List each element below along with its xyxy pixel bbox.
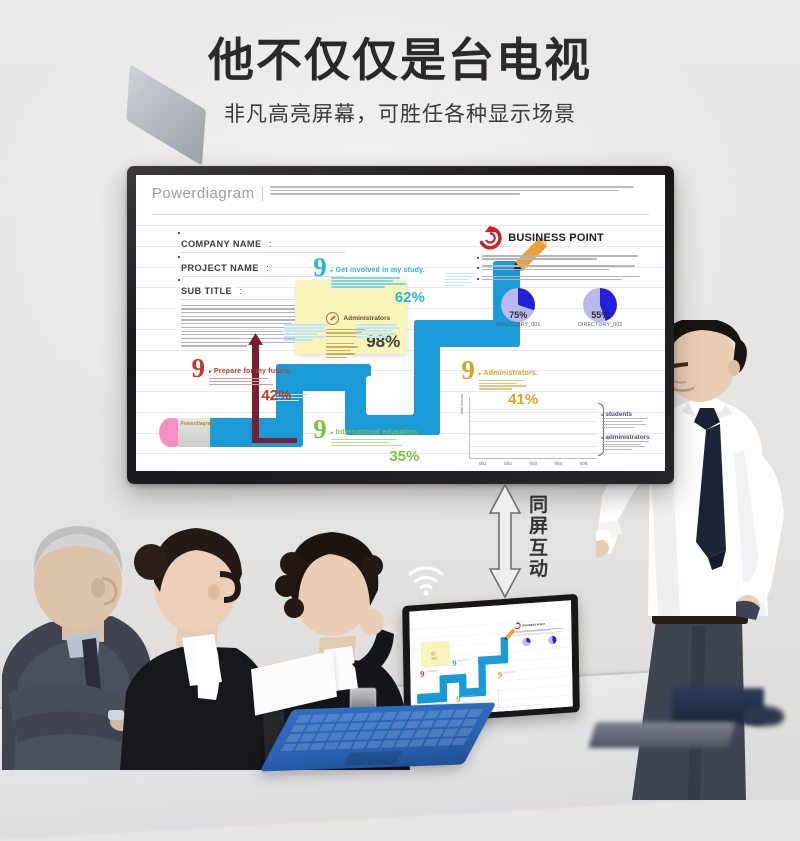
legend-label-text: administrators [605, 434, 649, 441]
bar-chart-y-axis-label: total amount [460, 395, 464, 415]
pie-percent: 55% [578, 310, 623, 320]
legend-label: ▸ students [602, 411, 652, 418]
callout-title: ▸ International education. [331, 429, 420, 436]
wifi-icon [405, 562, 447, 596]
business-point-body [477, 255, 641, 281]
pencil-brand-label: Powerdiagram [180, 421, 214, 427]
pie-chart-group: 75% DIRECTORY_001 55% DIRECTORY_002 [477, 288, 641, 328]
pie-chart-directory-001: 75% DIRECTORY_001 [496, 288, 541, 328]
nine-glyph-icon: 9 [313, 256, 327, 306]
callout-lines [209, 378, 291, 385]
callout-percent: 35% [331, 448, 420, 465]
red-circular-arrow-icon [513, 622, 521, 630]
tablet-screen[interactable]: 9 9 9 9 [409, 600, 572, 717]
sync-label: 同屏互动 [524, 495, 554, 580]
business-point-title: BUSINESS POINT [508, 232, 604, 244]
sync-double-arrow-icon [487, 483, 523, 599]
business-point-header: BUSINESS POINT [477, 225, 641, 251]
callout-title: ▸ Administrators. [479, 370, 538, 377]
legend-item-students[interactable]: ▸ students [602, 411, 652, 427]
callout-lines [479, 380, 538, 390]
nine-glyph-icon: 9 [313, 418, 327, 465]
pie-label: DIRECTORY_001 [496, 322, 541, 328]
callout-international-education[interactable]: 9 ▸ International education. 35% [313, 418, 419, 465]
legend-label: ▸ administrators [602, 434, 652, 441]
business-point-panel: BUSINESS POINT 75% DIRECTORY_001 [477, 225, 641, 327]
x-tick-label: 001 [479, 461, 487, 466]
tv-screen[interactable]: Powerdiagram COMPANY NAME : [136, 175, 665, 471]
pie-percent: 75% [496, 310, 541, 320]
wall-mounted-tv[interactable]: Powerdiagram COMPANY NAME : [127, 166, 674, 484]
business-point-title: BUSINESS POINT [522, 623, 545, 627]
callout-title-text: International education. [336, 429, 420, 436]
bar-chart-bars [471, 397, 596, 458]
callout-title-text: Administrators. [483, 370, 538, 377]
callout-title-text: Get involved in my study. [336, 267, 425, 274]
background-keyboard [588, 722, 735, 748]
background-mouse [742, 706, 784, 726]
callout-prepare-future[interactable]: 9 ▸ Prepare for my future. 42% [192, 357, 292, 404]
callout-title-text: Prepare for my future. [214, 368, 292, 375]
pie-chart-directory-002: 55% DIRECTORY_002 [578, 288, 623, 328]
bar-chart-legend: ▸ students ▸ administrators [602, 411, 652, 456]
callout-get-involved[interactable]: 9 ▸ Get involved in my study. 62% [313, 256, 425, 306]
tablet-mirrored-slide: 9 9 9 9 [409, 600, 572, 717]
callout-percent: 62% [331, 289, 425, 306]
trace-arrowhead-icon [245, 333, 266, 348]
red-circular-arrow-icon [477, 225, 503, 251]
x-tick-label: 002 [504, 461, 512, 466]
keyboard-keys[interactable] [280, 709, 482, 751]
callout-title: ▸ Prepare for my future. [209, 368, 291, 375]
keyboard-trackpad[interactable] [343, 751, 403, 766]
nine-glyph-icon: 9 [192, 357, 206, 404]
sync-label-text: 同屏互动 [524, 495, 554, 580]
infographic-slide: Powerdiagram COMPANY NAME : [136, 175, 665, 471]
bar-chart-x-labels: 001002003004005 [470, 461, 596, 466]
page-subtitle: 非凡高亮屏幕，可胜任各种显示场景 [0, 98, 800, 128]
tablet-keyboard[interactable] [260, 703, 497, 772]
callout-lines [331, 277, 425, 287]
pie-label: DIRECTORY_002 [578, 322, 623, 328]
legend-label-text: students [605, 411, 632, 418]
x-tick-label: 004 [555, 461, 563, 466]
callout-percent: 42% [209, 387, 291, 404]
bar-chart-plot [469, 397, 596, 459]
page-title: 他不仅仅是台电视 [0, 36, 800, 84]
headline-block: 他不仅仅是台电视 非凡高亮屏幕，可胜任各种显示场景 [0, 36, 800, 128]
x-tick-label: 003 [529, 461, 537, 466]
bar-chart: 001002003004005 total amount [469, 397, 596, 459]
callout-lines [331, 439, 420, 446]
callout-title: ▸ Get involved in my study. [331, 267, 425, 274]
x-tick-label: 005 [580, 461, 588, 466]
legend-item-administrators[interactable]: ▸ administrators [602, 434, 652, 450]
